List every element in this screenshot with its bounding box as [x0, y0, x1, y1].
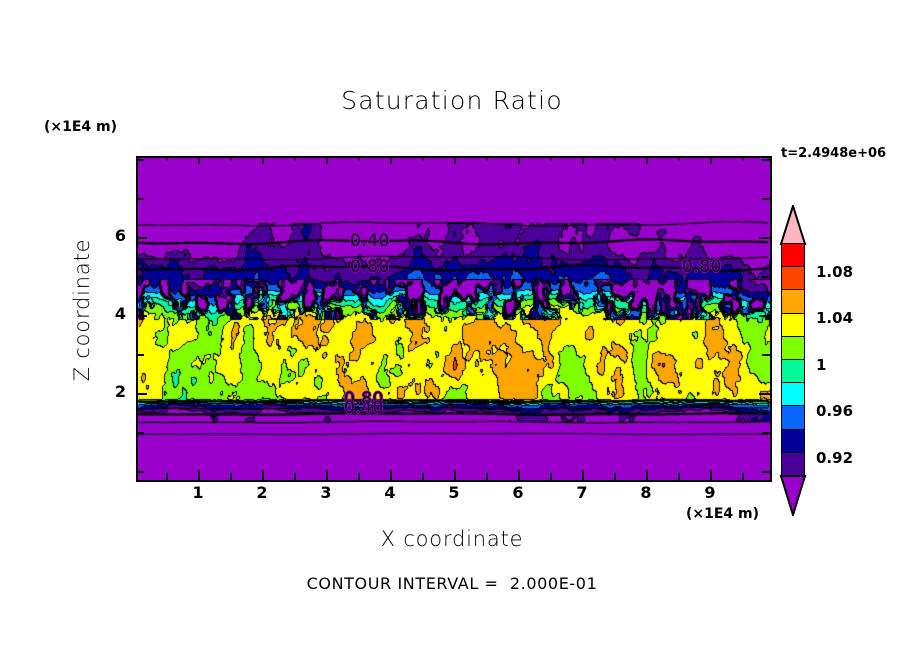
x-axis-minor-tick: [614, 473, 616, 480]
x-axis-tick: [582, 470, 584, 480]
y-axis-minor-tick: [136, 471, 144, 473]
y-axis-tick-right: [759, 315, 770, 317]
x-axis-title: X coordinate: [0, 527, 904, 551]
x-axis-unit-label: (×1E4 m): [686, 506, 759, 522]
x-axis-tick-label: 2: [242, 483, 282, 502]
colorbar-tick-label: 0.96: [816, 402, 853, 420]
x-axis-tick: [198, 470, 200, 480]
x-axis-minor-tick: [166, 473, 168, 480]
x-axis-tick-top: [454, 156, 456, 164]
y-axis-minor-tick: [762, 354, 770, 356]
y-axis-tick-label: 4: [96, 304, 126, 323]
x-axis-minor-tick: [550, 473, 552, 480]
y-axis-minor-tick: [762, 432, 770, 434]
contour-line-label: 0.40: [350, 231, 390, 251]
colorbar-tick-label: 1: [816, 356, 826, 374]
colorbar-band: [781, 405, 805, 430]
colorbar-bottom-arrow: [778, 474, 808, 520]
colorbar-band: [781, 452, 805, 477]
z-axis-unit-label: (×1E4 m): [44, 119, 117, 135]
x-axis-tick-top: [518, 156, 520, 164]
y-axis-tick-label: 6: [96, 226, 126, 245]
x-axis-minor-tick: [294, 156, 296, 161]
colorbar-tick-label: 1.04: [816, 309, 853, 327]
colorbar: 1.081.0410.960.92: [778, 205, 808, 515]
x-axis-tick-label: 6: [498, 483, 538, 502]
y-axis-minor-tick: [762, 198, 770, 200]
x-axis-minor-tick: [742, 156, 744, 161]
x-axis-tick-top: [198, 156, 200, 164]
x-axis-tick-label: 9: [690, 483, 730, 502]
contour-line-label: 0.40: [344, 398, 384, 418]
x-axis-minor-tick: [358, 156, 360, 161]
x-axis-tick-label: 8: [626, 483, 666, 502]
y-axis-minor-tick: [762, 159, 770, 161]
x-axis-tick-top: [326, 156, 328, 164]
x-axis-tick-top: [582, 156, 584, 164]
x-axis-tick-label: 4: [370, 483, 410, 502]
y-axis-tick: [136, 315, 147, 317]
x-axis-minor-tick: [422, 473, 424, 480]
x-axis-minor-tick: [550, 156, 552, 161]
y-axis-tick: [136, 393, 147, 395]
x-axis-tick: [262, 470, 264, 480]
y-axis-minor-tick: [762, 276, 770, 278]
colorbar-band: [781, 336, 805, 361]
x-axis-minor-tick: [486, 473, 488, 480]
x-axis-tick-top: [710, 156, 712, 164]
y-axis-title: Z coordinate: [70, 210, 94, 410]
x-axis-tick: [646, 470, 648, 480]
contour-field-canvas: [138, 158, 770, 480]
x-axis-minor-tick: [422, 156, 424, 161]
x-axis-minor-tick: [166, 156, 168, 161]
x-axis-minor-tick: [486, 156, 488, 161]
x-axis-tick: [710, 470, 712, 480]
x-axis-minor-tick: [742, 473, 744, 480]
x-axis-minor-tick: [358, 473, 360, 480]
contour-plot-area: 0.400.800.800.800.40: [136, 156, 772, 482]
colorbar-band: [781, 359, 805, 384]
colorbar-band: [781, 382, 805, 407]
colorbar-tick-label: 0.92: [816, 449, 853, 467]
x-axis-tick-label: 3: [306, 483, 346, 502]
contour-interval-caption: CONTOUR INTERVAL = 2.000E-01: [0, 574, 904, 593]
y-axis-minor-tick: [136, 432, 144, 434]
x-axis-tick-label: 5: [434, 483, 474, 502]
x-axis-minor-tick: [230, 473, 232, 480]
x-axis-minor-tick: [294, 473, 296, 480]
x-axis-tick: [454, 470, 456, 480]
x-axis-tick-top: [646, 156, 648, 164]
y-axis-tick-right: [759, 237, 770, 239]
x-axis-tick-label: 1: [178, 483, 218, 502]
y-axis-tick: [136, 237, 147, 239]
y-axis-minor-tick: [136, 198, 144, 200]
colorbar-tick-label: 1.08: [816, 263, 853, 281]
x-axis-tick-top: [262, 156, 264, 164]
x-axis-tick: [326, 470, 328, 480]
x-axis-tick: [518, 470, 520, 480]
x-axis-tick-top: [390, 156, 392, 164]
contour-line-label: 0.80: [682, 257, 722, 277]
y-axis-tick-right: [759, 393, 770, 395]
y-axis-minor-tick: [136, 276, 144, 278]
colorbar-band: [781, 289, 805, 314]
y-axis-minor-tick: [136, 159, 144, 161]
x-axis-minor-tick: [230, 156, 232, 161]
colorbar-band: [781, 313, 805, 338]
y-axis-minor-tick: [136, 354, 144, 356]
colorbar-band: [781, 266, 805, 291]
x-axis-tick-label: 7: [562, 483, 602, 502]
x-axis-tick: [390, 470, 392, 480]
page-title: Saturation Ratio: [0, 86, 904, 115]
contour-line-label: 0.80: [350, 257, 390, 277]
y-axis-minor-tick: [762, 471, 770, 473]
x-axis-minor-tick: [678, 156, 680, 161]
time-stamp-label: t=2.4948e+06: [781, 146, 886, 161]
y-axis-tick-label: 2: [96, 382, 126, 401]
x-axis-minor-tick: [678, 473, 680, 480]
colorbar-band: [781, 243, 805, 268]
x-axis-minor-tick: [614, 156, 616, 161]
colorbar-band: [781, 429, 805, 454]
